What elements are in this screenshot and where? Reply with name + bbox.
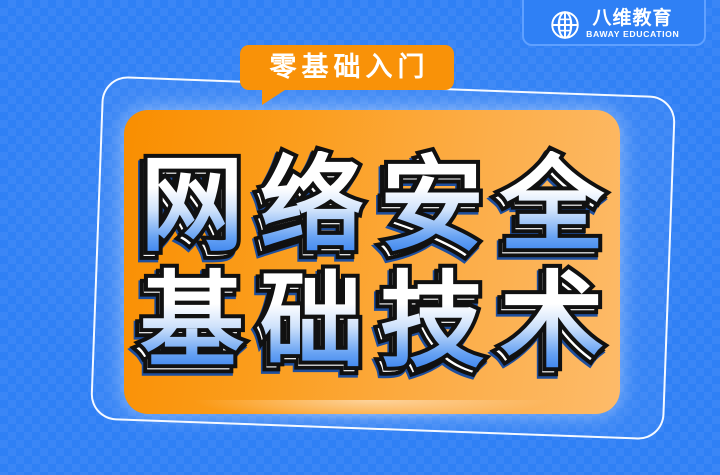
brand-name-cn: 八维教育 [592, 9, 672, 29]
glyph-face-fill: 安 [375, 151, 489, 259]
brand-name-en: BAWAY EDUCATION [586, 29, 679, 40]
course-level-badge: 零基础入门 [240, 45, 454, 90]
glyph-face-fill: 络 [255, 151, 369, 259]
headline-line-2: 基 基 基 基 基 础 础 础 础 础 技 技 技 技 技 术 [135, 265, 609, 375]
badge-label: 零基础入门 [265, 45, 430, 90]
headline-glyph: 础 础 础 础 础 [255, 267, 369, 375]
poster-canvas: 网 网 网 网 网 络 络 络 络 络 安 安 安 安 安 全 [0, 0, 720, 475]
brand-wordmark: 八维教育 BAWAY EDUCATION [587, 9, 679, 40]
glyph-face-fill: 基 [135, 267, 249, 375]
headline-glyph: 基 基 基 基 基 [135, 267, 249, 375]
headline-block: 网 网 网 网 网 络 络 络 络 络 安 安 安 安 安 全 [124, 110, 620, 414]
headline-line-1: 网 网 网 网 网 络 络 络 络 络 安 安 安 安 安 全 [135, 149, 609, 259]
headline-glyph: 术 术 术 术 术 [495, 267, 609, 375]
headline-glyph: 安 安 安 安 安 [375, 151, 489, 259]
glyph-face-fill: 术 [495, 267, 609, 375]
headline-glyph: 网 网 网 网 网 [135, 151, 249, 259]
globe-grid-icon [550, 10, 580, 40]
badge-tail [262, 88, 288, 105]
headline-glyph: 全 全 全 全 全 [495, 151, 609, 259]
glyph-face-fill: 技 [375, 267, 489, 375]
brand-logo-plate: 八维教育 BAWAY EDUCATION [522, 0, 706, 46]
headline-glyph: 技 技 技 技 技 [375, 267, 489, 375]
brand-logo-row: 八维教育 BAWAY EDUCATION [550, 9, 679, 40]
glyph-face-fill: 础 [255, 267, 369, 375]
glyph-face-fill: 全 [495, 151, 609, 259]
headline-glyph: 络 络 络 络 络 [255, 151, 369, 259]
glyph-face-fill: 网 [135, 151, 249, 259]
